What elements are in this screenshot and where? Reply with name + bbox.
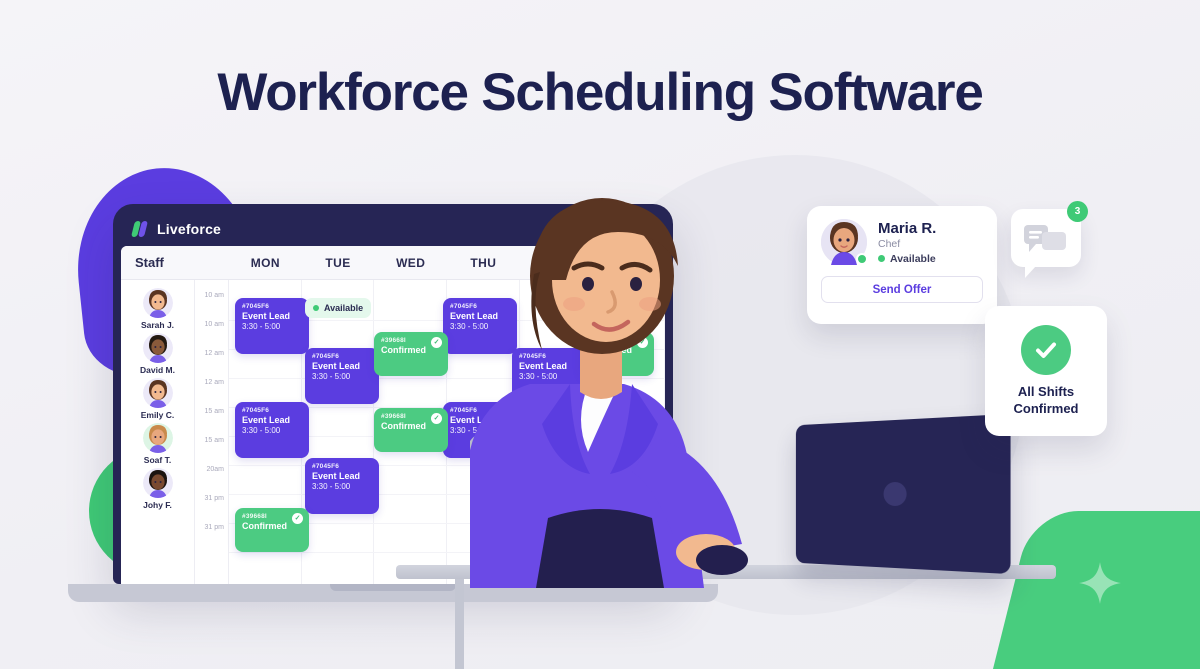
availability-label: Available [324,303,363,313]
time-label: 15 am [195,408,228,437]
sparkle-icon [1078,561,1122,605]
shift-time: 3:30 - 5:00 [312,372,372,381]
shift-time: 3:30 - 5:00 [242,426,302,435]
staff-row[interactable]: Soaf T. [121,423,195,465]
send-offer-button[interactable]: Send Offer [821,276,983,303]
available-dot-icon [313,305,319,311]
avatar [143,423,173,453]
desk-leg [455,579,464,669]
all-shifts-confirmed-card: All Shifts Confirmed [985,306,1107,436]
staff-column-header: Staff [121,255,195,270]
availability-chip[interactable]: Available [305,298,371,318]
check-circle-icon [1021,325,1071,375]
time-label: 31 pm [195,495,228,524]
shift-code: #7045F6 [312,463,372,470]
confirmed-card-text: All Shifts Confirmed [1014,384,1079,417]
online-status-badge [856,253,868,265]
staff-row[interactable]: David M. [121,333,195,375]
time-label: 10 am [195,292,228,321]
avatar [143,468,173,498]
shift-chip[interactable]: #7045F6Event Lead3:30 - 5:00 [235,402,309,458]
avatar [821,219,867,265]
shift-code: #7045F6 [312,353,372,360]
shift-time: 3:30 - 5:00 [312,482,372,491]
status-label: Available [890,253,936,265]
staff-role: Chef [878,238,936,250]
shift-role: Event Lead [242,415,302,425]
shift-chip[interactable]: #7045F6Event Lead3:30 - 5:00 [305,348,379,404]
staff-name: Johy F. [121,500,195,510]
laptop-logo-icon [884,482,907,506]
confirmed-shift-chip[interactable]: #39668lConfirmed✓ [235,508,309,552]
shift-role: Event Lead [312,361,372,371]
time-label: 15 am [195,437,228,466]
person-illustration [470,188,800,588]
staff-name: David M. [121,365,195,375]
day-header-wed[interactable]: WED [374,256,447,270]
status-badge: Available [878,253,936,265]
confirmed-shift-chip[interactable]: #39668lConfirmed✓ [374,332,448,376]
liveforce-logo-icon [133,220,149,238]
shift-chip[interactable]: #7045F6Event Lead3:30 - 5:00 [305,458,379,514]
time-label: 10 am [195,321,228,350]
check-icon: ✓ [431,413,442,424]
avatar [143,288,173,318]
time-label: 31 pm [195,524,228,553]
time-label: 12 am [195,350,228,379]
brand-name: Liveforce [157,221,221,237]
confirmed-line-2: Confirmed [1014,401,1079,417]
shift-role: Event Lead [312,471,372,481]
desk-laptop [796,414,1011,574]
status-dot-icon [878,255,885,262]
staff-offer-card: Maria R. Chef Available Send Offer [807,206,997,324]
day-header-tue[interactable]: TUE [302,256,375,270]
staff-row[interactable]: Emily C. [121,378,195,420]
check-icon: ✓ [292,513,303,524]
staff-name: Sarah J. [121,320,195,330]
staff-list: Sarah J.David M.Emily C.Soaf T.Johy F. [121,280,195,584]
shift-chip[interactable]: #7045F6Event Lead3:30 - 5:00 [235,298,309,354]
avatar [143,378,173,408]
illustration-canvas: Workforce Scheduling Software Liveforce … [0,0,1200,669]
staff-name: Emily C. [121,410,195,420]
time-label: 12 am [195,379,228,408]
staff-row[interactable]: Johy F. [121,468,195,510]
staff-name: Maria R. [878,220,936,237]
avatar [143,333,173,363]
unread-count-badge: 3 [1067,201,1088,222]
check-icon: ✓ [431,337,442,348]
day-header-mon[interactable]: MON [229,256,302,270]
time-label: 20am [195,466,228,495]
messages-card[interactable]: 3 [1011,209,1081,267]
shift-role: Event Lead [242,311,302,321]
shift-code: #7045F6 [242,407,302,414]
staff-name: Soaf T. [121,455,195,465]
laptop-notch [330,584,456,591]
staff-row[interactable]: Sarah J. [121,288,195,330]
shift-code: #7045F6 [242,303,302,310]
confirmed-shift-chip[interactable]: #39668lConfirmed✓ [374,408,448,452]
time-axis: 10 am10 am12 am12 am15 am15 am20am31 pm3… [195,280,229,584]
confirmed-line-1: All Shifts [1014,384,1079,400]
page-title: Workforce Scheduling Software [0,62,1200,123]
shift-time: 3:30 - 5:00 [242,322,302,331]
bubble-tail [1025,266,1036,278]
